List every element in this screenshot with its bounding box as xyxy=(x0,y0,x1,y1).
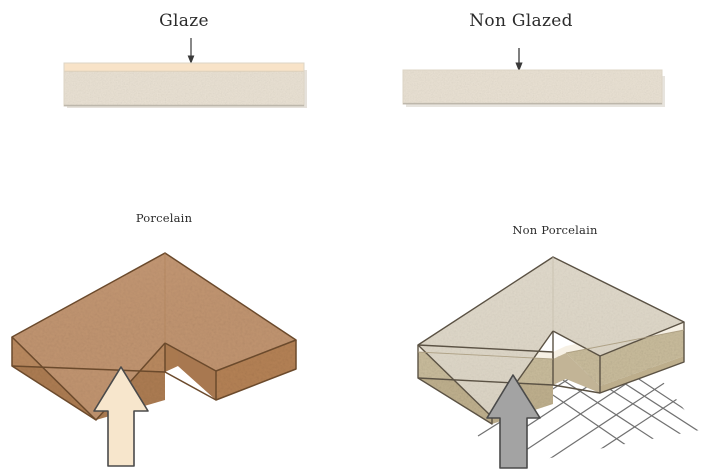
panel-non-glazed: Non Glazed xyxy=(403,11,665,107)
non-porcelain-tile-3d-slab xyxy=(418,257,684,424)
panel-glaze: Glaze xyxy=(64,11,307,108)
glazed-tile-cross-section xyxy=(64,63,307,108)
non-porcelain-label: Non Porcelain xyxy=(512,223,598,237)
glaze-label: Glaze xyxy=(159,11,209,31)
porcelain-tile-3d-slab xyxy=(12,253,296,420)
unglazed-tile-cross-section xyxy=(403,70,665,107)
glaze-pointer-arrow xyxy=(188,38,195,64)
non-glazed-label: Non Glazed xyxy=(469,11,573,31)
porcelain-label: Porcelain xyxy=(136,211,193,225)
tile-comparison-diagram: Glaze Non Glazed xyxy=(0,0,719,473)
panel-non-porcelain: Non Porcelain xyxy=(418,223,716,472)
tile-body xyxy=(403,70,662,104)
tile-glaze-layer xyxy=(64,63,304,71)
diagram-canvas: Glaze Non Glazed xyxy=(0,0,719,473)
non-glazed-pointer-arrow xyxy=(515,48,522,72)
panel-porcelain: Porcelain xyxy=(12,211,296,466)
